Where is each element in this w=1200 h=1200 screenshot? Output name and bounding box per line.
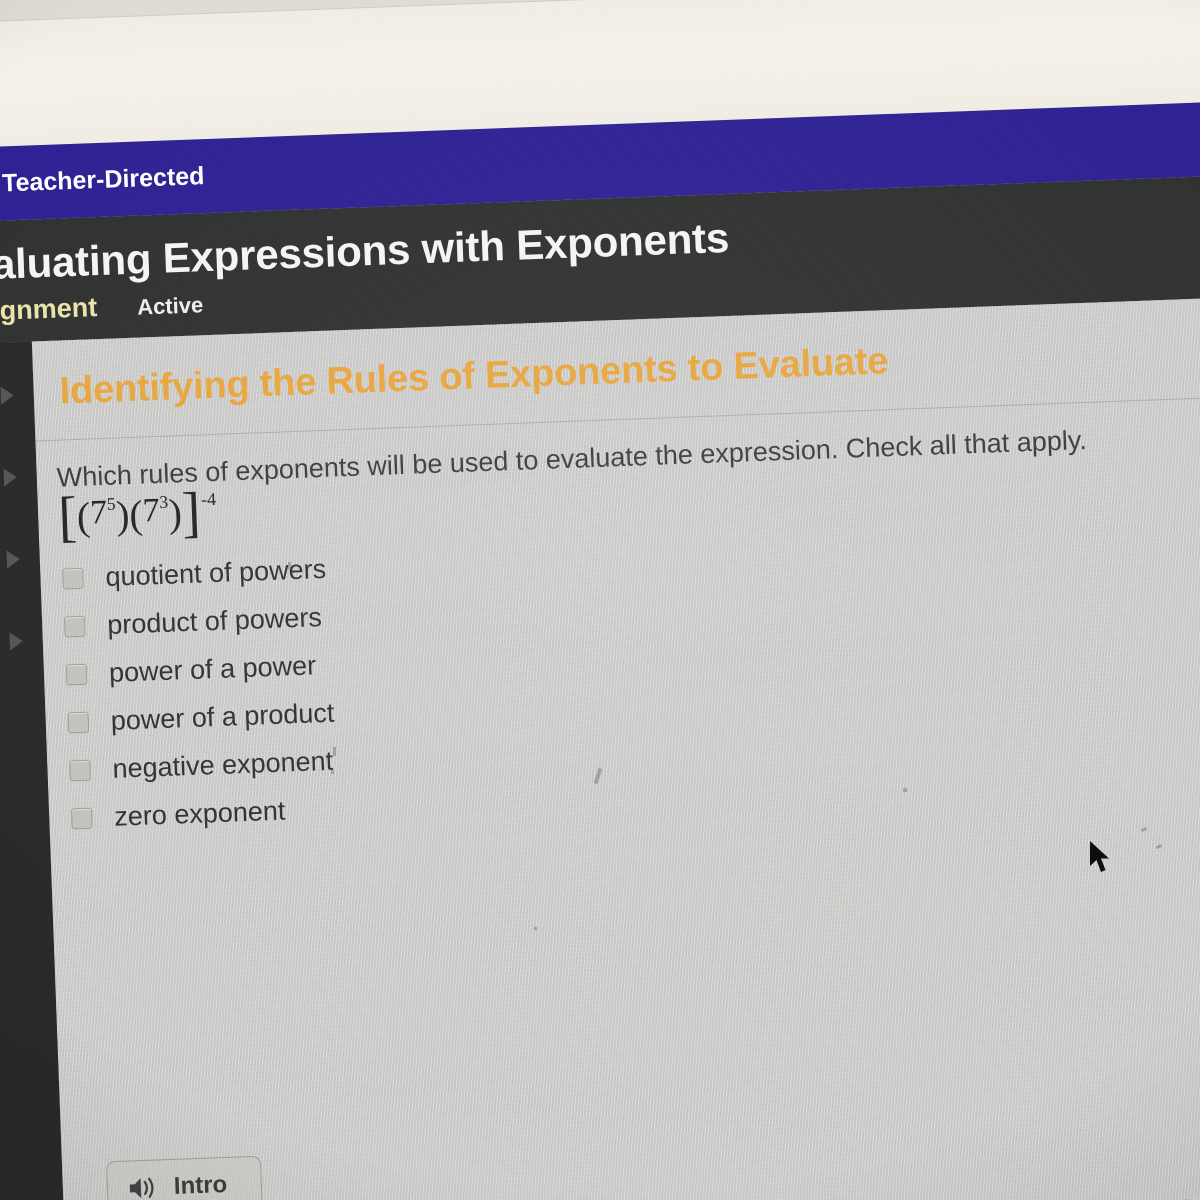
option-label: product of powers bbox=[107, 602, 323, 641]
browser-window: ady × Edgenuity for Students × M McGraw-… bbox=[0, 0, 1200, 1200]
photographed-screen: ady × Edgenuity for Students × M McGraw-… bbox=[0, 0, 1200, 1200]
expression-open-paren-1: ( bbox=[76, 497, 91, 537]
checkbox-icon[interactable] bbox=[71, 807, 93, 829]
checkbox-icon[interactable] bbox=[69, 759, 91, 781]
dust-speck bbox=[903, 788, 907, 792]
checkbox-icon[interactable] bbox=[64, 615, 86, 637]
question-panel: Identifying the Rules of Exponents to Ev… bbox=[32, 296, 1200, 1200]
expression-outer-exponent: -4 bbox=[201, 490, 217, 509]
option-label: zero exponent bbox=[114, 795, 286, 832]
expression-base-1: 7 bbox=[90, 496, 108, 531]
dust-speck bbox=[331, 770, 334, 774]
workspace: Identifying the Rules of Exponents to Ev… bbox=[0, 296, 1200, 1200]
intro-button-wrap: Intro bbox=[106, 1156, 263, 1200]
caret-left-icon[interactable] bbox=[9, 632, 23, 650]
lesson-state-label: Active bbox=[137, 292, 204, 320]
option-label: quotient of powers bbox=[105, 553, 327, 592]
expression-close-paren-1: ) bbox=[115, 495, 130, 535]
lesson-kind-label: Assignment bbox=[0, 292, 98, 329]
dust-speck bbox=[288, 562, 291, 569]
caret-left-icon[interactable] bbox=[0, 386, 14, 404]
speaker-icon bbox=[127, 1176, 158, 1200]
intro-audio-button[interactable]: Intro bbox=[106, 1156, 263, 1200]
intro-button-label: Intro bbox=[173, 1171, 227, 1200]
dust-speck bbox=[333, 747, 336, 756]
checkbox-icon[interactable] bbox=[62, 567, 84, 589]
course-bar-label: Year: Teacher-Directed bbox=[0, 162, 205, 201]
caret-left-icon[interactable] bbox=[3, 468, 17, 486]
option-label: power of a product bbox=[110, 697, 335, 736]
option-label: power of a power bbox=[108, 650, 316, 689]
answer-options: quotient of powers product of powers pow… bbox=[39, 494, 1200, 835]
expression-open-bracket: [ bbox=[58, 497, 78, 539]
expression-base-2: 7 bbox=[142, 494, 160, 529]
expression-close-paren-2: ) bbox=[168, 493, 183, 533]
checkbox-icon[interactable] bbox=[66, 663, 88, 685]
option-label: negative exponent bbox=[112, 745, 334, 784]
caret-left-icon[interactable] bbox=[6, 550, 20, 568]
expression-close-bracket: ] bbox=[181, 493, 201, 535]
checkbox-icon[interactable] bbox=[67, 711, 89, 733]
dust-speck bbox=[534, 927, 537, 930]
